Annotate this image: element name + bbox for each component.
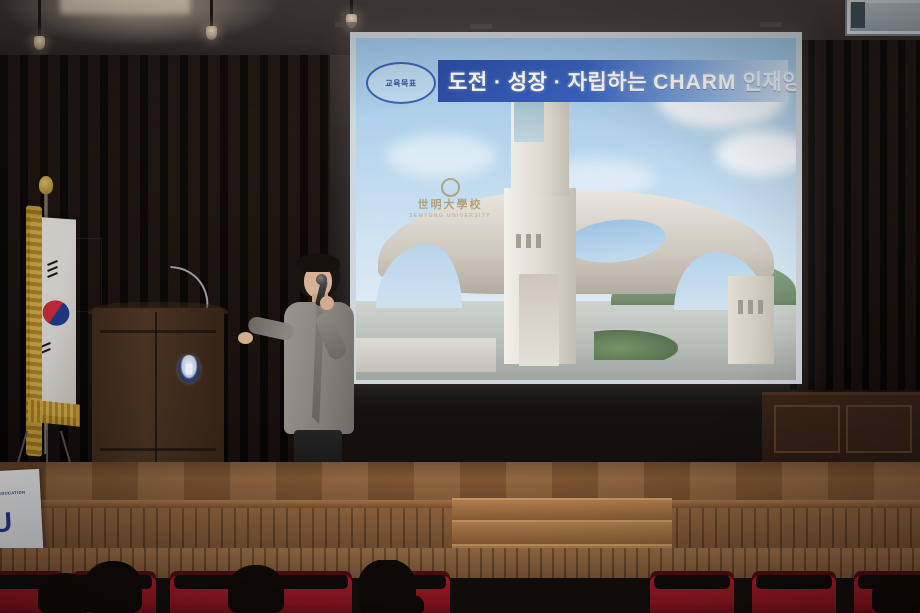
ceiling-vent — [470, 24, 492, 29]
gate-slot — [738, 300, 743, 314]
auditorium-photo: 世明大學校 SEMYUNG UNIVERSITY 교육목표 도전 · 성장 · … — [0, 0, 920, 613]
slide-trees — [594, 330, 678, 360]
university-building-logo: 世明大學校 SEMYUNG UNIVERSITY — [390, 178, 510, 224]
university-seal-icon — [441, 178, 460, 197]
gate-slot — [748, 300, 753, 314]
podium-groove — [100, 330, 216, 333]
cabinet-panel — [774, 405, 840, 453]
stage-step — [452, 498, 672, 522]
microphone-head-icon — [316, 274, 327, 285]
ceiling-skylight — [60, 0, 190, 14]
slide-title-banner: 교육목표 도전 · 성장 · 자립하는 CHARM 인재양성 — [364, 60, 788, 102]
pendant-light — [38, 0, 41, 40]
presenter-right-hand — [320, 296, 334, 310]
audience-head — [872, 575, 920, 613]
cloud — [716, 130, 796, 176]
rollup-banner-small-text: EDUCATION — [0, 490, 26, 496]
pendant-light — [210, 0, 213, 30]
ceiling-vent — [760, 22, 782, 27]
university-name-korean: 世明大學校 — [390, 200, 510, 211]
university-name-english: SEMYUNG UNIVERSITY — [390, 213, 510, 219]
gate-slot — [758, 300, 763, 314]
slide-low-wall — [356, 338, 496, 372]
projection-booth-window — [845, 0, 920, 36]
rollup-banner-big-text: U — [0, 506, 14, 539]
gate-tower-glazing — [514, 96, 544, 142]
gate-post-right — [728, 276, 774, 364]
presenter-bangs — [296, 254, 340, 272]
slide-headline: 도전 · 성장 · 자립하는 CHARM 인재양성 — [438, 66, 796, 96]
audience-head — [228, 565, 284, 613]
gate-slot — [526, 234, 531, 248]
slide-headline-korean: 도전 · 성장 · 자립하는 — [448, 71, 647, 94]
slide-headline-english: CHARM — [653, 71, 736, 94]
stage-curtain-right — [790, 40, 920, 390]
presenter — [262, 254, 358, 494]
audience-head — [398, 595, 424, 613]
projection-screen: 世明大學校 SEMYUNG UNIVERSITY 교육목표 도전 · 성장 · … — [356, 38, 796, 380]
theater-seat — [650, 571, 734, 613]
cloud — [386, 134, 496, 178]
slide-badge: 교육목표 — [366, 62, 436, 104]
slide-headline-bar: 도전 · 성장 · 자립하는 CHARM 인재양성 — [438, 60, 788, 102]
gate-slot — [516, 234, 521, 248]
gate-doorway — [519, 274, 559, 366]
slide-badge-label: 교육목표 — [385, 78, 416, 89]
audience-head — [84, 561, 142, 613]
flag-finial — [39, 176, 53, 194]
audience-seating — [0, 560, 920, 613]
gate-slot — [536, 234, 541, 248]
slide-headline-tail: 인재양성 — [743, 71, 796, 94]
stage-side-cabinet — [762, 392, 920, 465]
stage-step — [452, 520, 672, 546]
ceiling-vent — [335, 22, 357, 27]
theater-seat — [752, 571, 836, 613]
presenter-left-hand — [238, 332, 253, 344]
cabinet-panel — [846, 405, 912, 453]
podium-emblem — [178, 355, 200, 383]
podium-groove — [100, 448, 216, 451]
podium-seam — [155, 312, 157, 464]
pendant-light — [350, 0, 353, 18]
